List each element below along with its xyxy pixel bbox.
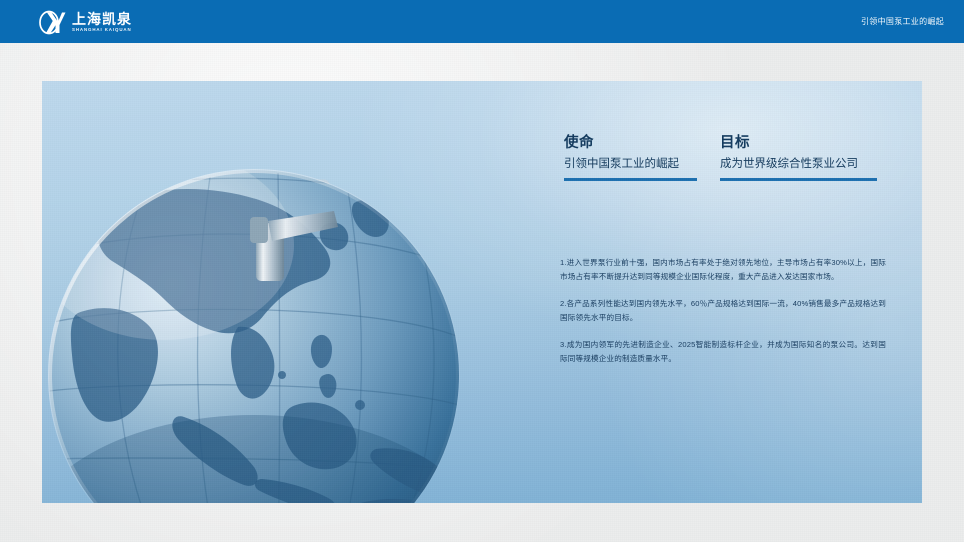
goal-title: 目标 [720,136,878,152]
mission-subtitle: 引领中国泵工业的崛起 [564,157,698,173]
heading-block-mission: 使命 引领中国泵工业的崛起 [564,136,698,181]
slide-canvas: 使命 引领中国泵工业的崛起 目标 成为世界级综合性泵业公司 1.进入世界泵行业前… [42,81,922,503]
viewer-page: 上海凯泉 SHANGHAI KAIQUAN 引领中国泵工业的崛起 [0,0,964,542]
mission-title: 使命 [564,136,698,152]
brand-name-cn: 上海凯泉 [72,12,132,26]
header-title: 引领中国泵工业的崛起 [861,0,944,43]
globe-illustration [42,81,512,503]
mission-underline [564,178,697,181]
brand-wordmark: 上海凯泉 SHANGHAI KAIQUAN [72,12,132,32]
body-paragraphs: 1.进入世界泵行业前十强，国内市场占有率处于绝对领先地位，主导市场占有率30%以… [560,248,886,366]
brand-name-en: SHANGHAI KAIQUAN [72,28,132,32]
globe-graphic [42,81,512,503]
kaiquan-logo-icon [36,8,66,37]
headings-row: 使命 引领中国泵工业的崛起 目标 成为世界级综合性泵业公司 [564,136,904,181]
brand-logo[interactable]: 上海凯泉 SHANGHAI KAIQUAN [36,7,132,37]
goal-subtitle: 成为世界级综合性泵业公司 [720,157,878,173]
goal-underline [720,178,877,181]
heading-block-goal: 目标 成为世界级综合性泵业公司 [720,136,878,181]
paragraph-3: 3.成为国内领军的先进制造企业、2025智能制造标杆企业，并成为国际知名的泵公司… [560,338,886,366]
paragraph-1: 1.进入世界泵行业前十强，国内市场占有率处于绝对领先地位，主导市场占有率30%以… [560,256,886,284]
slide-text-content: 使命 引领中国泵工业的崛起 目标 成为世界级综合性泵业公司 1.进入世界泵行业前… [520,81,922,503]
brand-header-bar: 上海凯泉 SHANGHAI KAIQUAN 引领中国泵工业的崛起 [0,0,964,43]
paragraph-2: 2.各产品系列性能达到国内领先水平，60％产品规格达到国际一流，40%销售最多产… [560,297,886,325]
